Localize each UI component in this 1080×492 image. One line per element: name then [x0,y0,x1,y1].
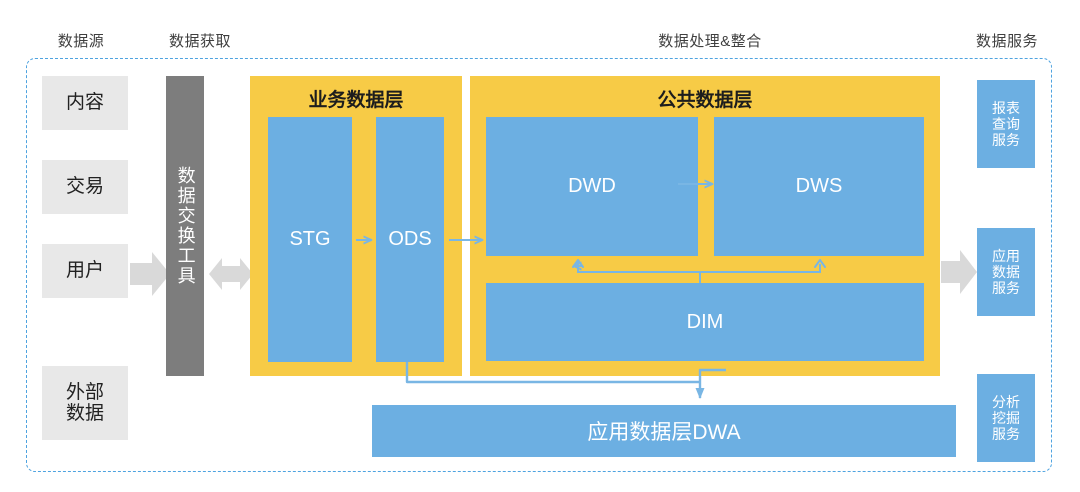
service-app-data-line1: 应用 [992,248,1020,264]
header-data-ingest: 数据获取 [145,30,255,51]
source-box-external-label-line1: 外部 [66,382,104,403]
arrow-sources-to-exchange [130,252,170,296]
stg-box[interactable]: STG [268,117,352,362]
source-box-user[interactable]: 用户 [42,244,128,298]
service-report-query-line2: 查询 [992,116,1020,132]
source-box-external[interactable]: 外部 数据 [42,366,128,440]
dws-box[interactable]: DWS [714,117,924,256]
dim-box[interactable]: DIM [486,283,924,361]
public-data-layer-title: 公共数据层 [470,85,940,112]
service-app-data-line2: 数据 [992,264,1020,280]
source-box-transaction-label: 交易 [66,176,104,197]
service-report-query-line1: 报表 [992,100,1020,116]
source-box-external-label-line2: 数据 [66,403,104,424]
stg-label: STG [289,228,330,251]
service-box-report-query[interactable]: 报表 查询 服务 [977,80,1035,168]
service-box-analysis-mining[interactable]: 分析 挖掘 服务 [977,374,1035,462]
dim-label: DIM [687,311,724,334]
source-box-content-label: 内容 [66,92,104,113]
ods-label: ODS [388,228,431,251]
service-app-data-line3: 服务 [992,280,1020,296]
source-box-transaction[interactable]: 交易 [42,160,128,214]
data-exchange-tool-label: 数据交换工具 [174,166,195,286]
service-analysis-mining-line1: 分析 [992,394,1020,410]
data-exchange-tool-bar[interactable]: 数据交换工具 [166,76,204,376]
service-report-query-line3: 服务 [992,132,1020,148]
service-analysis-mining-line2: 挖掘 [992,410,1020,426]
application-data-layer-label: 应用数据层DWA [587,416,740,446]
header-data-source: 数据源 [26,30,136,51]
service-analysis-mining-line3: 服务 [992,426,1020,442]
header-data-process: 数据处理&整合 [580,30,840,51]
header-data-service: 数据服务 [952,30,1062,51]
dwd-label: DWD [568,175,616,198]
source-box-user-label: 用户 [66,260,104,281]
ods-box[interactable]: ODS [376,117,444,362]
service-box-app-data[interactable]: 应用 数据 服务 [977,228,1035,316]
dwd-box[interactable]: DWD [486,117,698,256]
dws-label: DWS [796,175,843,198]
application-data-layer-bar[interactable]: 应用数据层DWA [372,405,956,457]
source-box-content[interactable]: 内容 [42,76,128,130]
arrow-exchange-to-business-bidirectional [209,250,253,298]
diagram-canvas: 数据源 数据获取 数据处理&整合 数据服务 内容 交易 用户 外部 数据 数据交… [0,0,1080,492]
business-data-layer-title: 业务数据层 [250,85,462,112]
arrow-process-to-services [941,250,977,294]
